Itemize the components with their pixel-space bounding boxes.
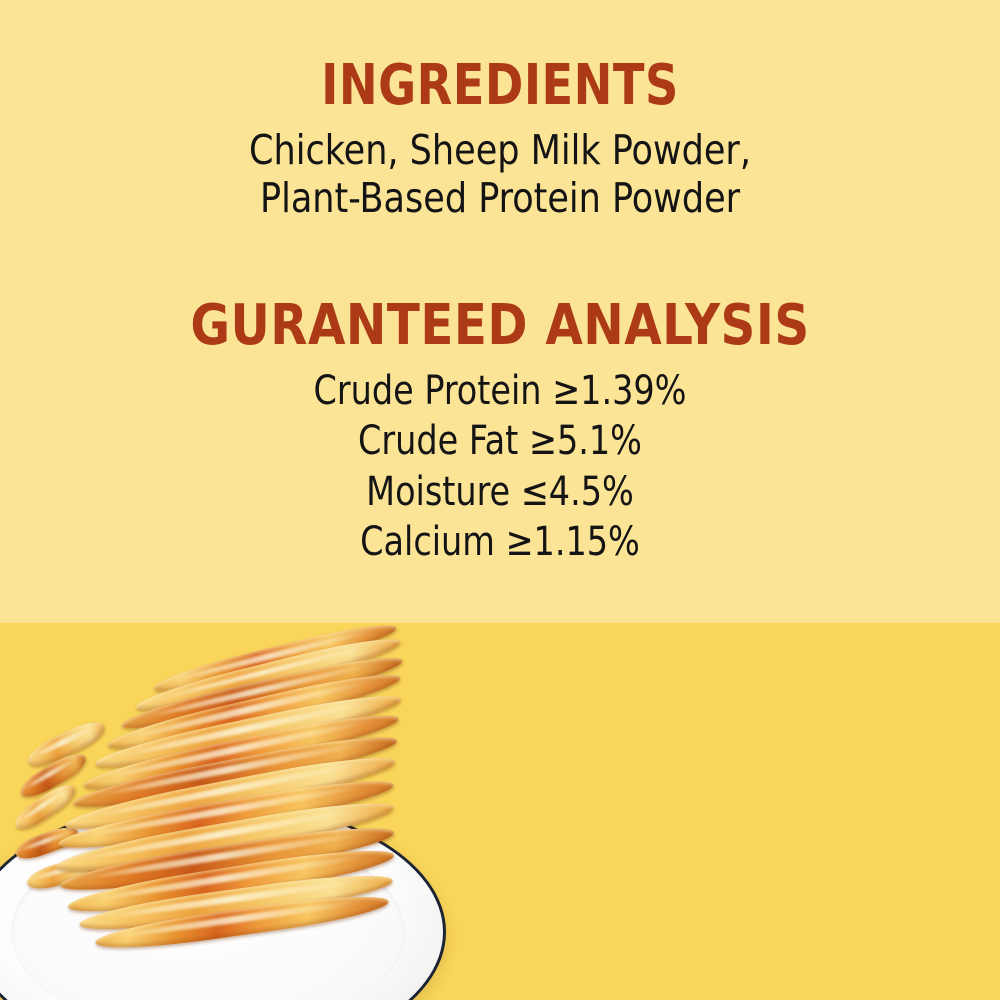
analysis-line-crude-protein: Crude Protein ≥1.39% <box>35 366 965 416</box>
label-page: INGREDIENTS Chicken, Sheep Milk Powder, … <box>0 0 1000 1000</box>
guranteed-analysis-heading: GURANTEED ANALYSIS <box>20 298 980 354</box>
product-photo-band <box>0 623 1000 1000</box>
nutrition-text-panel: INGREDIENTS Chicken, Sheep Milk Powder, … <box>0 0 1000 623</box>
analysis-line-calcium: Calcium ≥1.15% <box>35 517 965 567</box>
analysis-line-crude-fat: Crude Fat ≥5.1% <box>35 416 965 466</box>
analysis-line-moisture: Moisture ≤4.5% <box>35 467 965 517</box>
ingredients-heading: INGREDIENTS <box>40 58 960 114</box>
ingredients-list: Chicken, Sheep Milk Powder, Plant-Based … <box>0 126 1000 223</box>
guranteed-analysis-list: Crude Protein ≥1.39% Crude Fat ≥5.1% Moi… <box>0 366 1000 568</box>
chicken-jerky-strips <box>0 637 420 967</box>
ingredients-line-2: Plant-Based Protein Powder <box>25 174 975 222</box>
ingredients-line-1: Chicken, Sheep Milk Powder, <box>25 126 975 174</box>
